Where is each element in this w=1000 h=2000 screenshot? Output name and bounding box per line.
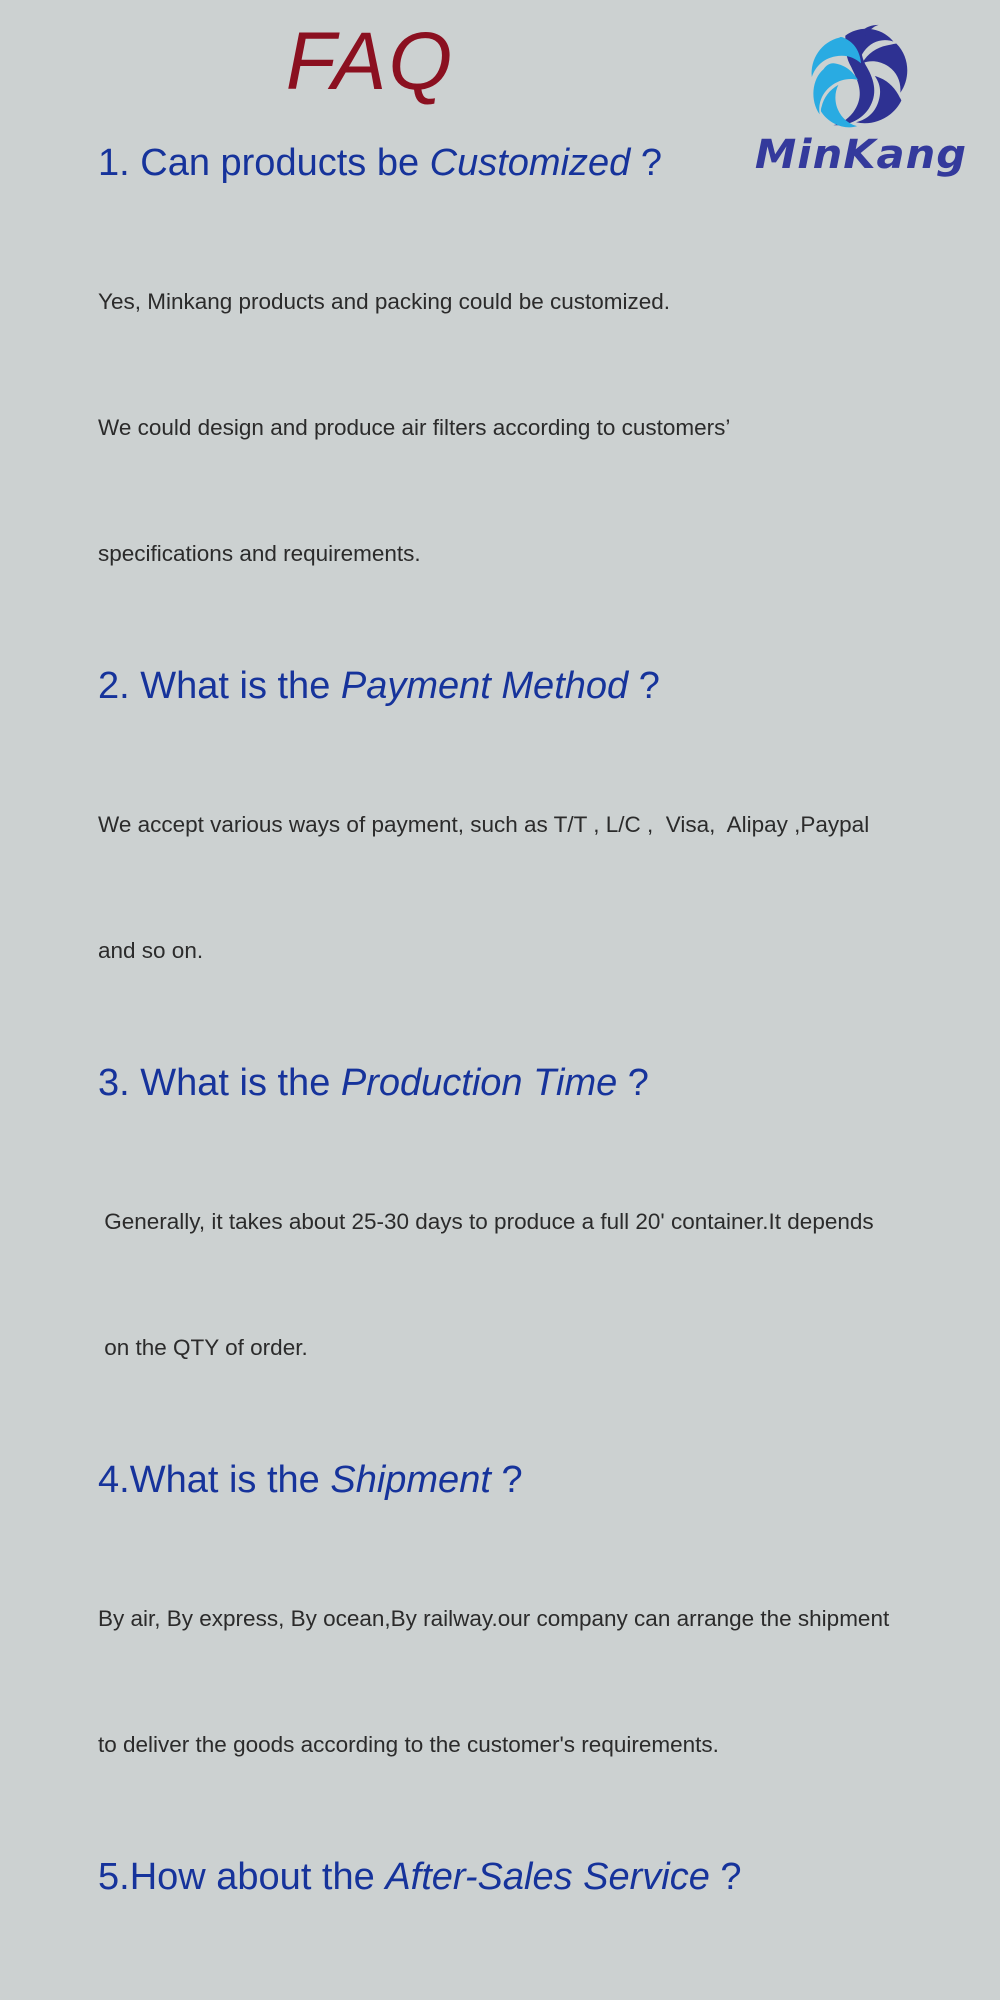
faq-answer-1: Yes, Minkang products and packing could … xyxy=(98,197,988,659)
faq-question-5: 5.How about the After-Sales Service ? xyxy=(98,1850,988,1904)
faq-answer-5: Our company is responsible for the suppl… xyxy=(98,1911,988,2000)
faq-question-5-lead: How about the xyxy=(130,1856,386,1898)
answer-line: By air, By express, By ocean,By railway.… xyxy=(98,1598,988,1640)
answer-line: to deliver the goods according to the cu… xyxy=(98,1724,988,1766)
faq-question-3-emphasis: Production Time xyxy=(341,1062,617,1104)
faq-item-1: 1. Can products be Customized ? Yes, Min… xyxy=(98,136,988,659)
faq-question-3-number: 3. xyxy=(98,1062,140,1104)
faq-question-4-tail: ? xyxy=(491,1459,523,1501)
faq-question-3-lead: What is the xyxy=(140,1062,341,1104)
answer-line: specifications and requirements. xyxy=(98,533,988,575)
faq-item-5: 5.How about the After-Sales Service ? Ou… xyxy=(98,1850,988,2000)
answer-line: and so on. xyxy=(98,930,988,972)
faq-question-4-lead: What is the xyxy=(130,1459,331,1501)
faq-question-5-tail: ? xyxy=(710,1856,742,1898)
answer-line: Generally, it takes about 25-30 days to … xyxy=(98,1201,988,1243)
answer-line: Yes, Minkang products and packing could … xyxy=(98,281,988,323)
faq-question-5-number: 5. xyxy=(98,1856,130,1898)
spacer xyxy=(98,190,988,197)
faq-answer-3: Generally, it takes about 25-30 days to … xyxy=(98,1117,988,1453)
faq-question-2: 2. What is the Payment Method ? xyxy=(98,659,988,713)
faq-question-1-lead: Can products be xyxy=(140,142,429,184)
answer-line: on the QTY of order. xyxy=(98,1327,988,1369)
faq-question-1: 1. Can products be Customized ? xyxy=(98,136,988,190)
faq-answer-2: We accept various ways of payment, such … xyxy=(98,720,988,1056)
pinwheel-swirl-icon xyxy=(802,18,920,136)
answer-line: We could design and produce air filters … xyxy=(98,407,988,449)
faq-item-2: 2. What is the Payment Method ? We accep… xyxy=(98,659,988,1056)
faq-item-3: 3. What is the Production Time ? General… xyxy=(98,1056,988,1453)
faq-question-2-lead: What is the xyxy=(140,665,341,707)
faq-question-4: 4.What is the Shipment ? xyxy=(98,1453,988,1507)
faq-question-2-tail: ? xyxy=(628,665,660,707)
answer-line: We accept various ways of payment, such … xyxy=(98,804,988,846)
answer-line: Our company is responsible for the suppl… xyxy=(98,1995,988,2000)
faq-question-5-emphasis: After-Sales Service xyxy=(385,1856,710,1898)
faq-question-4-number: 4. xyxy=(98,1459,130,1501)
faq-page: FAQ MinKang 1. Can xyxy=(0,0,1000,1000)
faq-list: 1. Can products be Customized ? Yes, Min… xyxy=(98,136,988,2000)
faq-question-1-emphasis: Customized xyxy=(430,142,631,184)
spacer xyxy=(98,1904,988,1911)
faq-question-1-number: 1. xyxy=(98,142,140,184)
faq-answer-4: By air, By express, By ocean,By railway.… xyxy=(98,1514,988,1850)
faq-question-1-tail: ? xyxy=(630,142,662,184)
faq-question-4-emphasis: Shipment xyxy=(330,1459,491,1501)
faq-item-4: 4.What is the Shipment ? By air, By expr… xyxy=(98,1453,988,1850)
faq-question-3: 3. What is the Production Time ? xyxy=(98,1056,988,1110)
faq-question-2-emphasis: Payment Method xyxy=(341,665,628,707)
faq-question-2-number: 2. xyxy=(98,665,140,707)
faq-question-3-tail: ? xyxy=(617,1062,649,1104)
spacer xyxy=(98,1110,988,1117)
spacer xyxy=(98,1507,988,1514)
spacer xyxy=(98,713,988,720)
